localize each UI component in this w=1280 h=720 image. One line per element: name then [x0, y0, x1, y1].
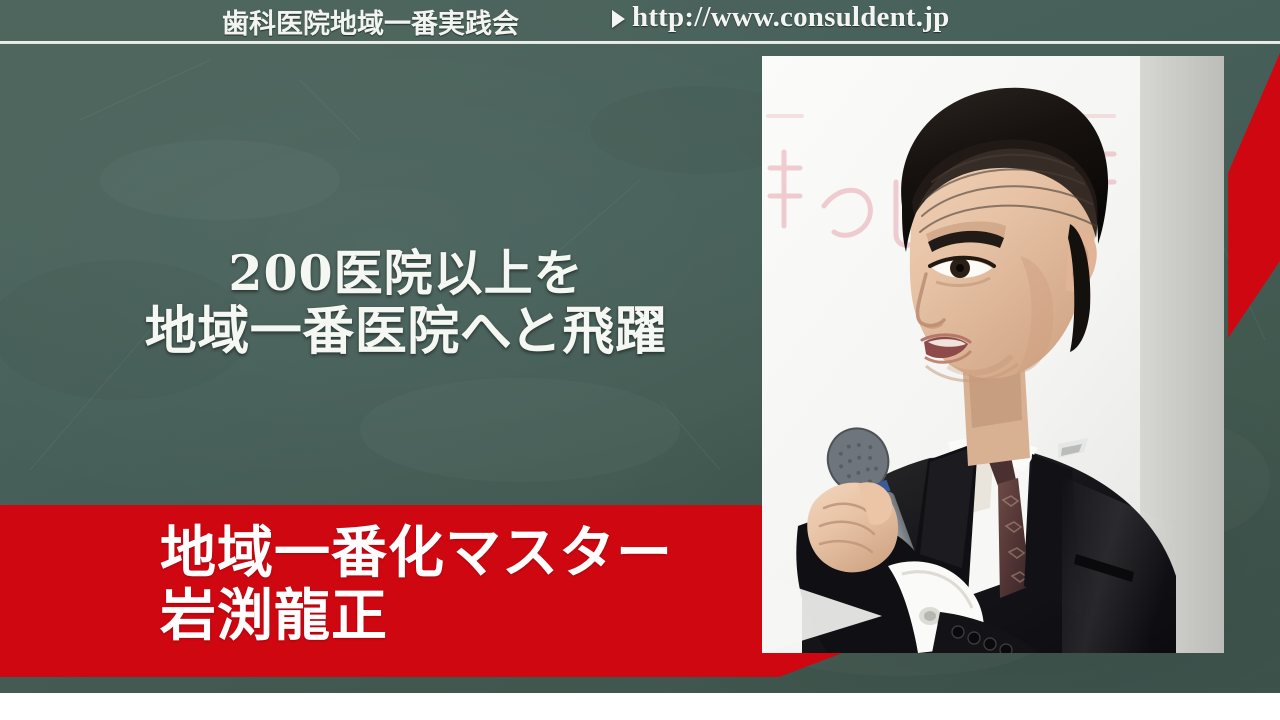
- headline-block: 200医院以上を 地域一番医院へと飛躍: [96, 248, 716, 359]
- header-divider-rule: [0, 41, 1280, 44]
- headline-line-2: 地域一番医院へと飛躍: [96, 304, 716, 359]
- website-link[interactable]: http://www.consuldent.jp: [612, 1, 949, 34]
- headline-line-1: 200医院以上を: [96, 248, 716, 300]
- bottom-gutter: [0, 693, 1280, 720]
- slide-canvas: 歯科医院地域一番実践会 http://www.consuldent.jp 200…: [0, 0, 1280, 720]
- speaker-title: 地域一番化マスター: [160, 524, 673, 583]
- speaker-name: 岩渕龍正: [160, 587, 673, 646]
- header-bar: 歯科医院地域一番実践会 http://www.consuldent.jp: [0, 0, 1280, 41]
- name-banner-text: 地域一番化マスター 岩渕龍正: [160, 524, 673, 646]
- speaker-photo-illustration: [762, 56, 1224, 653]
- play-triangle-icon: [612, 10, 625, 28]
- organization-title: 歯科医院地域一番実践会: [222, 2, 519, 41]
- website-url-text: http://www.consuldent.jp: [632, 1, 949, 34]
- speaker-photo: [762, 56, 1224, 653]
